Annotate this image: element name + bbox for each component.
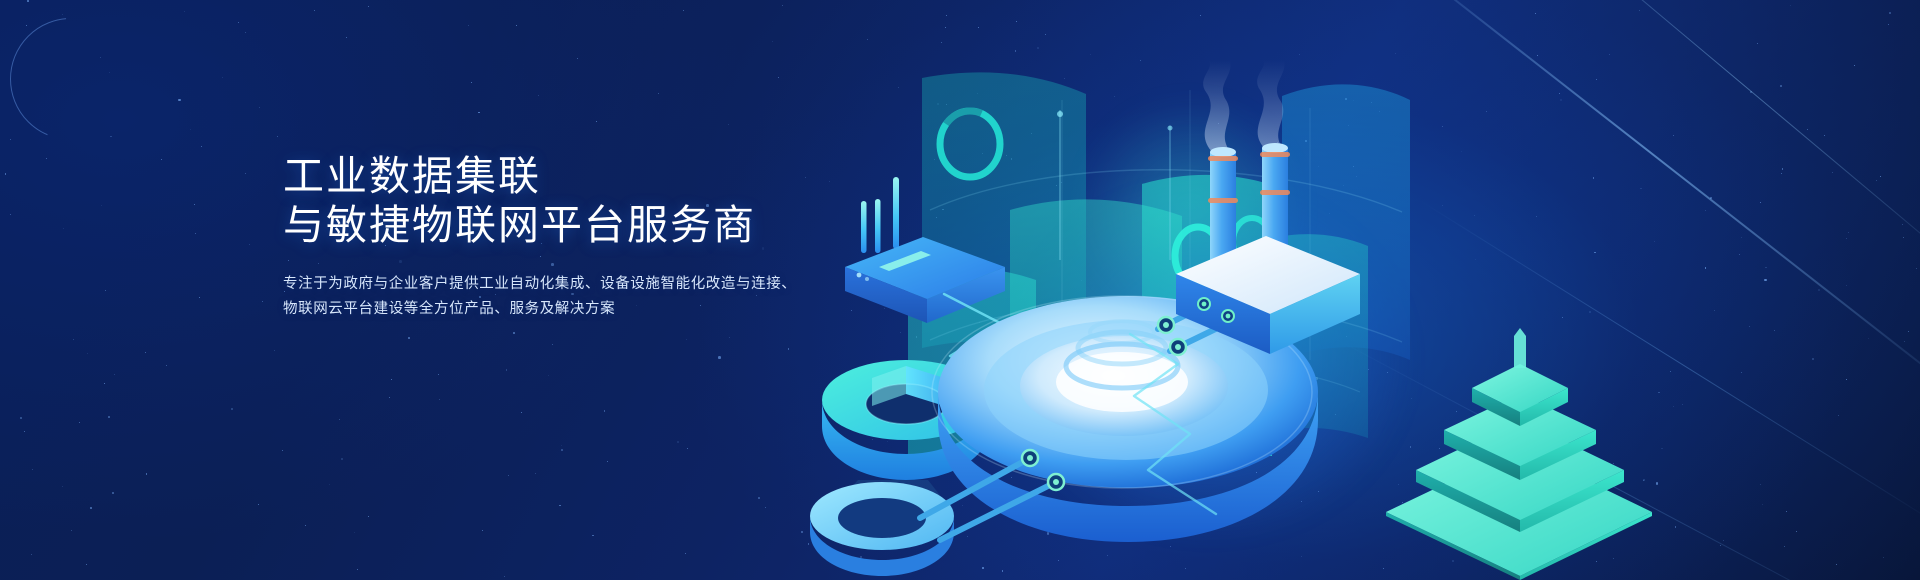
hero-subtitle: 专注于为政府与企业客户提供工业自动化集成、设备设施智能化改造与连接、 物联网云平… — [283, 272, 903, 322]
factory-smokestacks — [1160, 60, 1420, 360]
headline-line-2: 与敏捷物联网平台服务商 — [283, 201, 903, 250]
hero-copy: 工业数据集联 与敏捷物联网平台服务商 专注于为政府与企业客户提供工业自动化集成、… — [283, 152, 903, 322]
crescent-arc-decoration — [10, 18, 132, 140]
headline-line-1: 工业数据集联 — [283, 152, 903, 201]
connector-cable-dome-right — [1120, 330, 1300, 560]
stepped-pyramid — [1380, 320, 1660, 580]
subtitle-line-2: 物联网云平台建设等全方位产品、服务及解决方案 — [283, 297, 903, 322]
connector-cables-nodes — [880, 400, 1140, 550]
hero-banner: 工业数据集联 与敏捷物联网平台服务商 专注于为政府与企业客户提供工业自动化集成、… — [0, 0, 1920, 580]
subtitle-line-1: 专注于为政府与企业客户提供工业自动化集成、设备设施智能化改造与连接、 — [283, 272, 903, 297]
illustration — [760, 0, 1920, 580]
